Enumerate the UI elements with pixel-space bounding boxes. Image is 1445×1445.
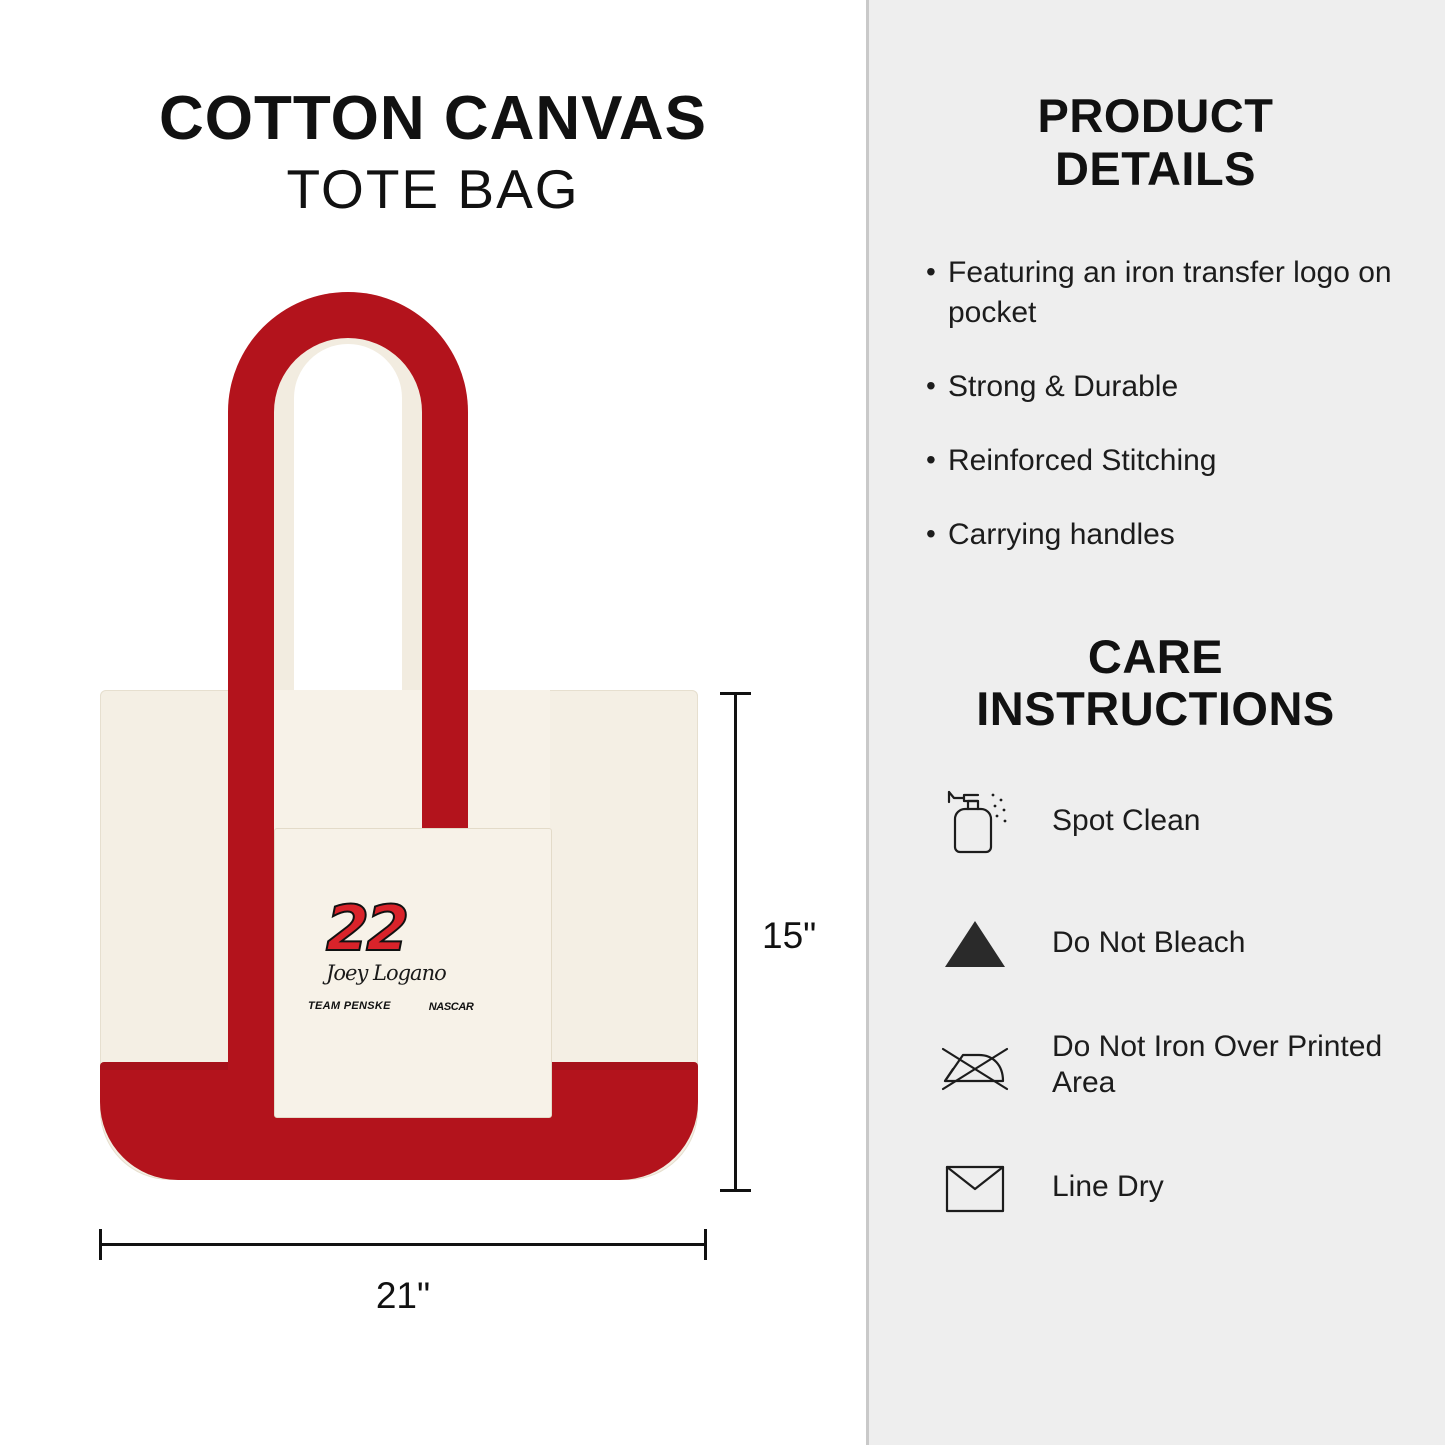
product-details-heading: PRODUCT DETAILS (866, 0, 1445, 195)
product-details-heading-line-1: PRODUCT (866, 90, 1445, 143)
list-item: Spot Clean (932, 778, 1415, 864)
width-measure-label: 21" (0, 1275, 806, 1317)
care-heading-line-1: CARE (866, 631, 1445, 684)
list-item: Do Not Bleach (932, 900, 1415, 986)
list-item: Carrying handles (926, 515, 1405, 555)
care-instructions-heading: CARE INSTRUCTIONS (866, 631, 1445, 736)
product-details-heading-line-2: DETAILS (866, 143, 1445, 196)
pocket-logo: 22 Joey Logano TEAM PENSKE NASCAR (298, 900, 528, 1013)
page-title: COTTON CANVAS TOTE BAG (0, 88, 866, 221)
width-measure-line (99, 1243, 707, 1246)
iron-crossed-out-icon (932, 1022, 1018, 1108)
line-dry-icon (932, 1144, 1018, 1230)
care-heading-line-2: INSTRUCTIONS (866, 683, 1445, 736)
panel-divider (866, 0, 869, 1445)
product-details-list: Featuring an iron transfer logo on pocke… (866, 253, 1445, 554)
care-label: Spot Clean (1052, 803, 1200, 839)
logo-driver-signature: Joey Logano (326, 961, 528, 985)
list-item: Line Dry (932, 1144, 1415, 1230)
logo-footer: TEAM PENSKE NASCAR (308, 1001, 528, 1013)
logo-team-penske: TEAM PENSKE (308, 1001, 391, 1013)
logo-nascar: NASCAR (429, 1001, 474, 1013)
right-panel: PRODUCT DETAILS Featuring an iron transf… (866, 0, 1445, 1445)
title-line-2: TOTE BAG (0, 158, 866, 221)
tote-bag-illustration: 22 Joey Logano TEAM PENSKE NASCAR (78, 280, 718, 1190)
bag-body-front-panel (274, 690, 550, 830)
product-info-sheet: COTTON CANVAS TOTE BAG 22 Joey Logano TE… (0, 0, 1445, 1445)
care-label: Line Dry (1052, 1169, 1164, 1205)
title-line-1: COTTON CANVAS (0, 88, 866, 150)
list-item: Strong & Durable (926, 367, 1405, 407)
care-label: Do Not Iron Over Printed Area (1052, 1029, 1415, 1101)
care-label: Do Not Bleach (1052, 925, 1245, 961)
triangle-filled-do-not-bleach-icon (932, 900, 1018, 986)
height-measure-line (734, 692, 737, 1192)
logo-car-number: 22 (326, 900, 528, 959)
height-measure-label: 15" (762, 915, 816, 957)
list-item: Do Not Iron Over Printed Area (932, 1022, 1415, 1108)
left-panel: COTTON CANVAS TOTE BAG 22 Joey Logano TE… (0, 0, 866, 1445)
spray-bottle-icon (932, 778, 1018, 864)
list-item: Reinforced Stitching (926, 441, 1405, 481)
list-item: Featuring an iron transfer logo on pocke… (926, 253, 1405, 333)
bag-strap-left (228, 690, 274, 1090)
care-instructions-list: Spot Clean Do Not Bleach (866, 778, 1445, 1230)
